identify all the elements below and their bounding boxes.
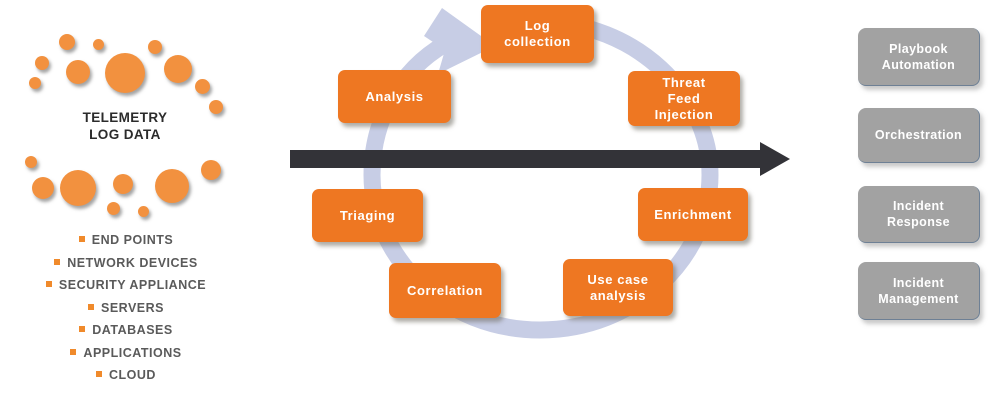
telemetry-source-label: APPLICATIONS	[83, 346, 181, 360]
bullet-square-icon	[54, 259, 60, 265]
cycle-stage-box[interactable]: Enrichment	[638, 188, 748, 241]
cycle-stage-label: Triaging	[340, 208, 395, 224]
telemetry-source-item: APPLICATIONS	[0, 342, 252, 365]
outcome-label: Incident Management	[871, 275, 966, 307]
outcome-box[interactable]: Incident Management	[858, 262, 980, 320]
telemetry-dot	[105, 53, 145, 93]
telemetry-dot	[195, 79, 210, 94]
outcome-box[interactable]: Orchestration	[858, 108, 980, 163]
telemetry-source-item: END POINTS	[0, 229, 252, 252]
cycle-stage-label: Correlation	[407, 283, 483, 299]
cycle-stage-box[interactable]: Analysis	[338, 70, 451, 123]
cycle-stage-box[interactable]: Triaging	[312, 189, 423, 242]
telemetry-source-item: DATABASES	[0, 319, 252, 342]
telemetry-title: TELEMETRY LOG DATA	[0, 109, 250, 143]
bullet-square-icon	[88, 304, 94, 310]
telemetry-panel: TELEMETRY LOG DATA END POINTSNETWORK DEV…	[0, 0, 290, 402]
outcome-label: Playbook Automation	[871, 41, 966, 73]
cycle-stage-box[interactable]: Log collection	[481, 5, 594, 63]
telemetry-source-label: NETWORK DEVICES	[67, 256, 197, 270]
telemetry-source-item: SECURITY APPLIANCE	[0, 274, 252, 297]
telemetry-dot	[29, 77, 41, 89]
bullet-square-icon	[96, 371, 102, 377]
telemetry-dot	[148, 40, 162, 54]
telemetry-dot	[25, 156, 37, 168]
telemetry-source-label: SERVERS	[101, 301, 164, 315]
telemetry-source-item: NETWORK DEVICES	[0, 252, 252, 275]
outcome-box[interactable]: Incident Response	[858, 186, 980, 243]
cycle-stage-label: Enrichment	[654, 207, 732, 223]
timeline-arrow-icon	[290, 142, 790, 176]
telemetry-source-label: CLOUD	[109, 368, 156, 382]
cycle-stage-label: Log collection	[498, 18, 578, 50]
telemetry-dot	[35, 56, 49, 70]
telemetry-dot	[107, 202, 120, 215]
bullet-square-icon	[79, 236, 85, 242]
outcome-box[interactable]: Playbook Automation	[858, 28, 980, 86]
telemetry-dot	[155, 169, 189, 203]
bullet-square-icon	[79, 326, 85, 332]
cycle-stage-box[interactable]: Threat Feed Injection	[628, 71, 740, 126]
cycle-stage-box[interactable]: Use case analysis	[563, 259, 673, 316]
telemetry-source-label: DATABASES	[92, 323, 172, 337]
telemetry-source-list: END POINTSNETWORK DEVICESSECURITY APPLIA…	[0, 229, 252, 387]
telemetry-dot	[138, 206, 149, 217]
telemetry-dot	[59, 34, 75, 50]
telemetry-dot	[113, 174, 133, 194]
telemetry-dot	[60, 170, 96, 206]
outcome-label: Incident Response	[871, 198, 966, 230]
telemetry-title-line-1: TELEMETRY	[0, 109, 250, 126]
telemetry-source-item: SERVERS	[0, 297, 252, 320]
telemetry-title-line-2: LOG DATA	[0, 126, 250, 143]
cycle-stage-label: Analysis	[365, 89, 423, 105]
outcomes-panel: Playbook AutomationOrchestrationIncident…	[850, 0, 989, 402]
outcome-label: Orchestration	[875, 127, 962, 143]
telemetry-dot	[201, 160, 221, 180]
soc-cycle-panel: AnalysisLog collectionThreat Feed Inject…	[290, 0, 850, 402]
telemetry-dot	[66, 60, 90, 84]
bullet-square-icon	[46, 281, 52, 287]
cycle-stage-label: Threat Feed Injection	[644, 75, 724, 123]
telemetry-dot	[93, 39, 104, 50]
telemetry-source-label: END POINTS	[92, 233, 173, 247]
cycle-stage-box[interactable]: Correlation	[389, 263, 501, 318]
cycle-stage-label: Use case analysis	[578, 272, 658, 304]
telemetry-source-item: CLOUD	[0, 364, 252, 387]
diagram-canvas: TELEMETRY LOG DATA END POINTSNETWORK DEV…	[0, 0, 989, 402]
bullet-square-icon	[70, 349, 76, 355]
telemetry-dot	[164, 55, 192, 83]
telemetry-dot	[32, 177, 54, 199]
telemetry-source-label: SECURITY APPLIANCE	[59, 278, 206, 292]
